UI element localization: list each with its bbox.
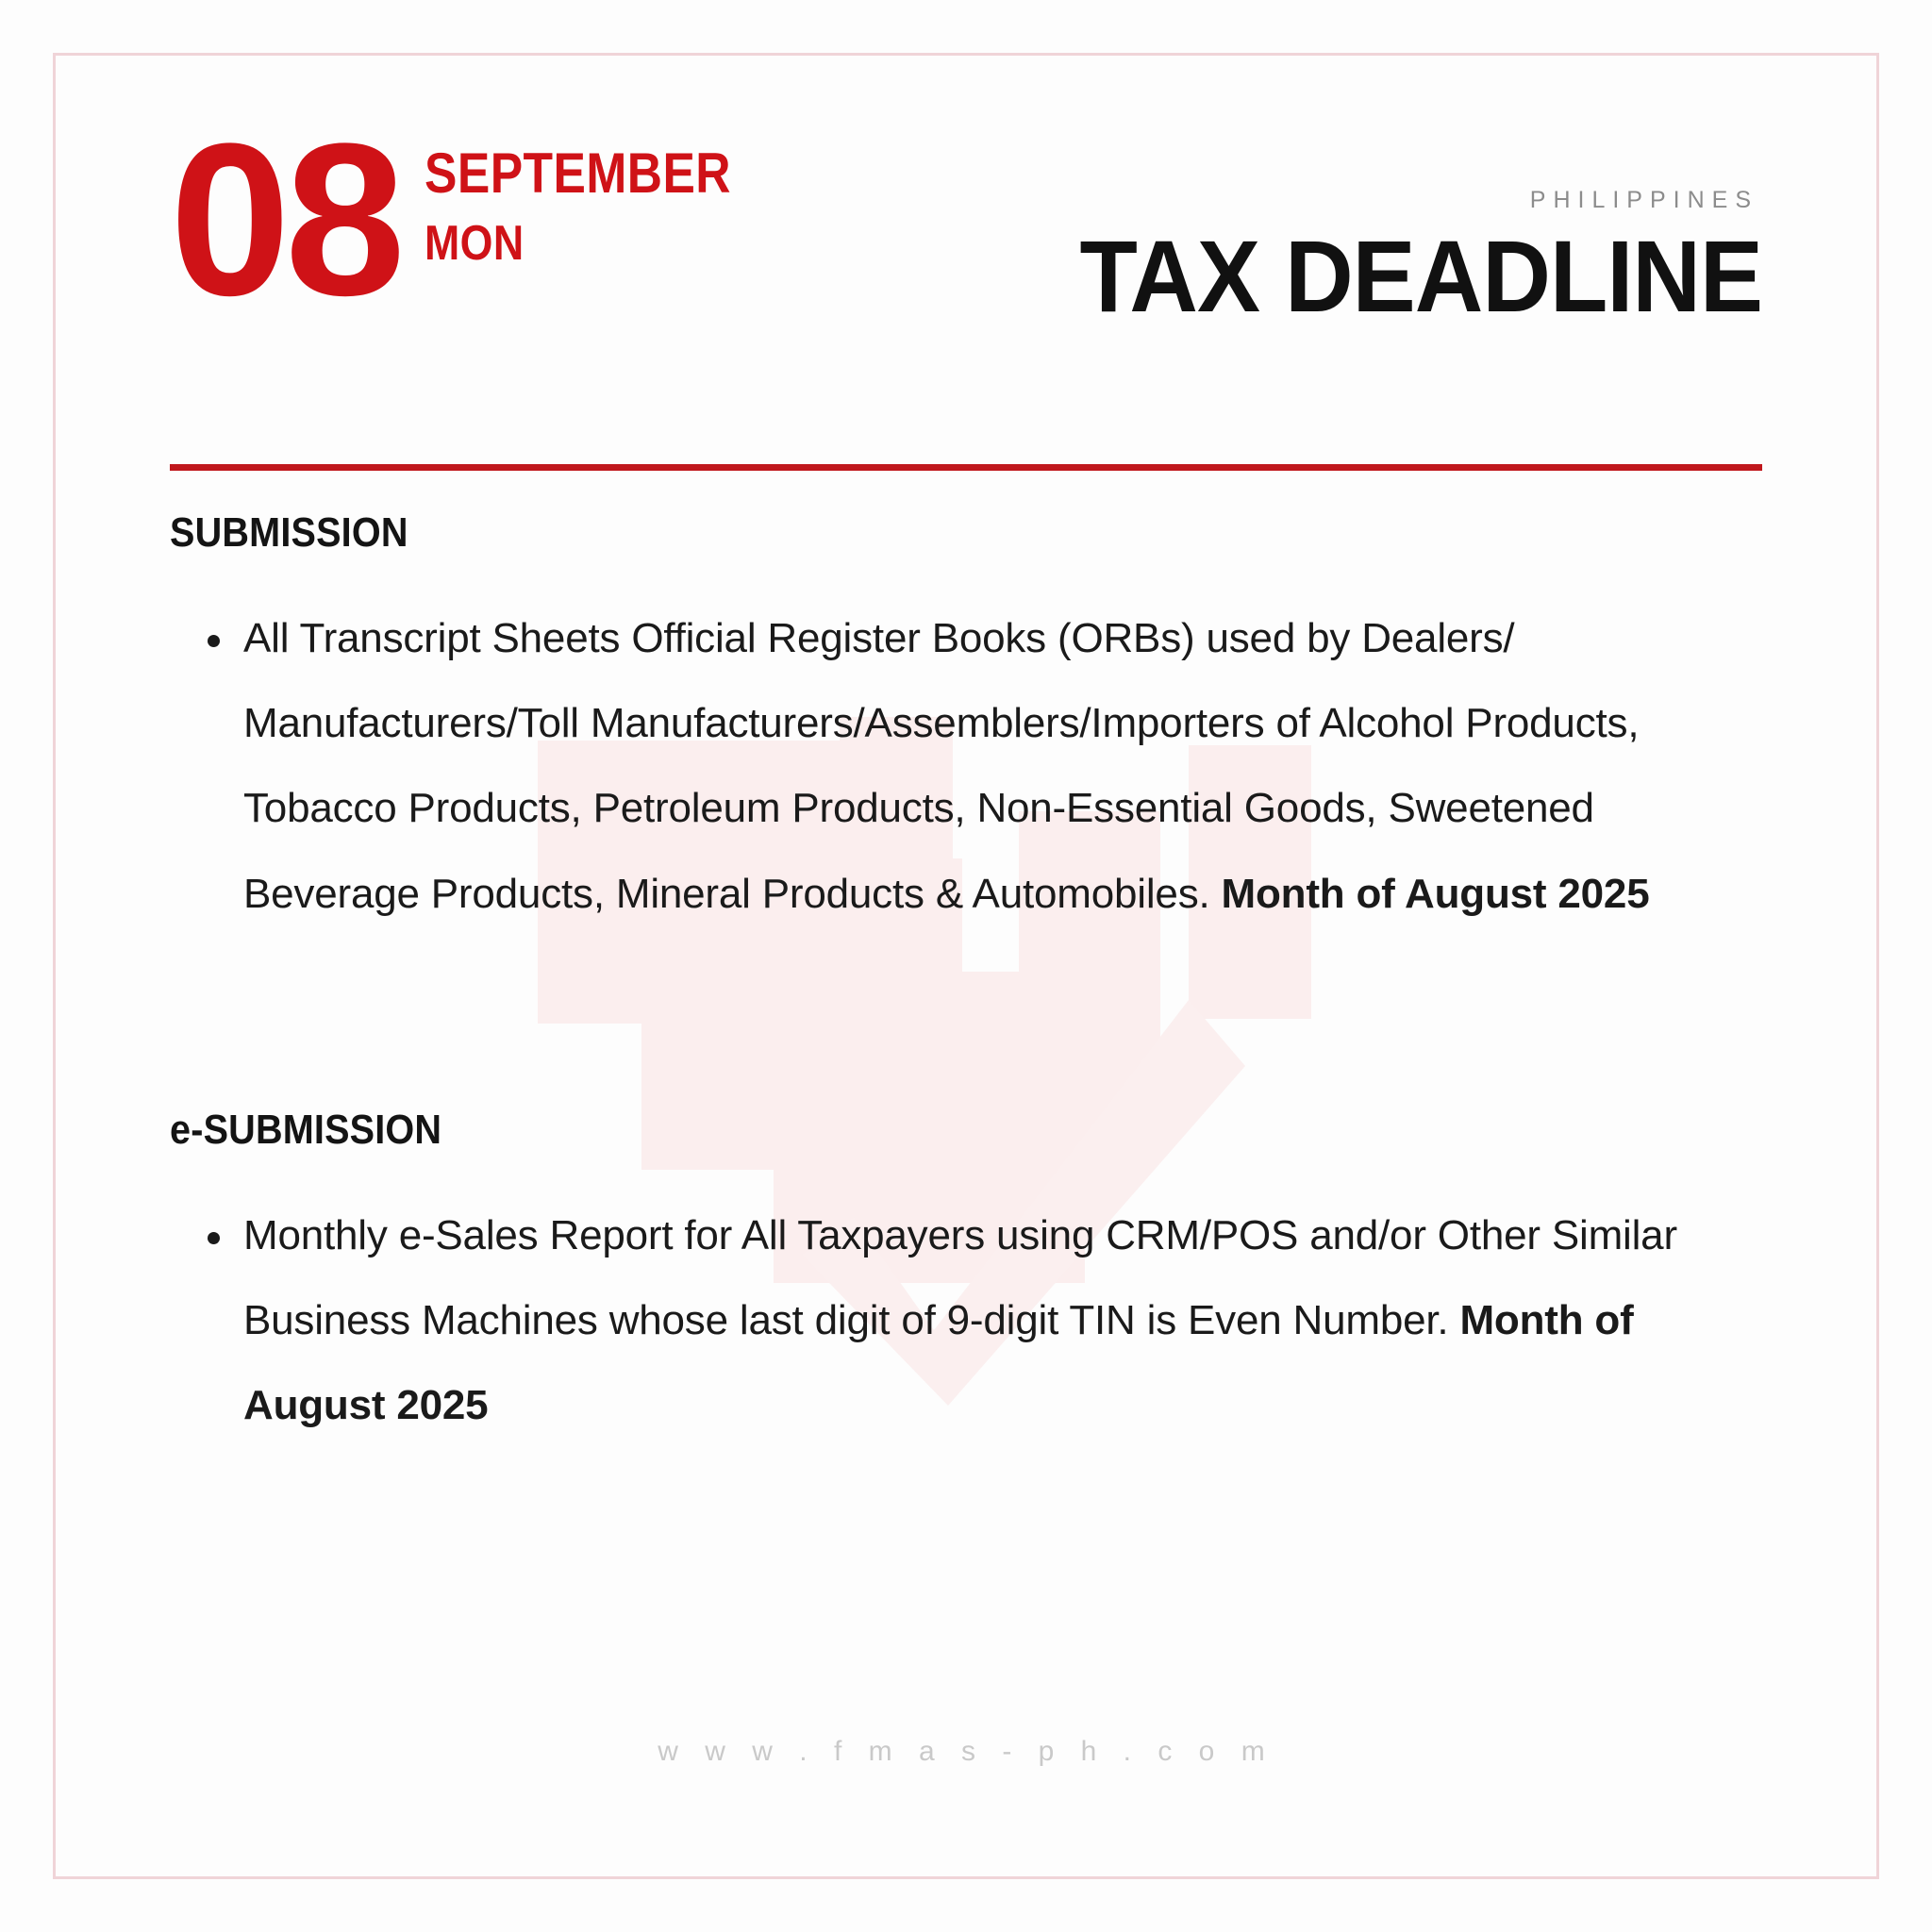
weekday-label: MON — [425, 219, 731, 268]
month-label: SEPTEMBER — [425, 145, 731, 202]
page-title: TAX DEADLINE — [1079, 225, 1762, 327]
tax-deadline-poster: 08 SEPTEMBER MON PHILIPPINES TAX DEADLIN… — [0, 0, 1932, 1932]
website-url[interactable]: w w w . f m a s - p h . c o m — [0, 1736, 1932, 1768]
submission-bullet-list: All Transcript Sheets Official Register … — [170, 596, 1772, 937]
poster-content: SUBMISSION All Transcript Sheets Officia… — [170, 509, 1772, 1448]
section-submission: SUBMISSION All Transcript Sheets Officia… — [170, 509, 1772, 937]
header-divider — [170, 464, 1762, 471]
poster-footer: w w w . f m a s - p h . c o m — [0, 1736, 1932, 1768]
poster-header: 08 SEPTEMBER MON PHILIPPINES TAX DEADLIN… — [170, 142, 1762, 387]
list-item: Monthly e-Sales Report for All Taxpayers… — [170, 1193, 1772, 1449]
section-heading-e-submission: e-SUBMISSION — [170, 1107, 1611, 1154]
e-submission-bullet-list: Monthly e-Sales Report for All Taxpayers… — [170, 1193, 1772, 1449]
date-words: SEPTEMBER MON — [425, 145, 781, 268]
bullet-text-bold: Month of August 2025 — [1222, 871, 1650, 917]
list-item: All Transcript Sheets Official Register … — [170, 596, 1772, 937]
country-label: PHILIPPINES — [1028, 187, 1758, 214]
section-spacer — [170, 937, 1772, 1107]
section-e-submission: e-SUBMISSION Monthly e-Sales Report for … — [170, 1107, 1772, 1449]
day-number: 08 — [170, 128, 400, 310]
section-heading-submission: SUBMISSION — [170, 509, 1611, 557]
title-block: PHILIPPINES TAX DEADLINE — [1028, 187, 1762, 327]
date-block: 08 SEPTEMBER MON — [170, 142, 781, 310]
